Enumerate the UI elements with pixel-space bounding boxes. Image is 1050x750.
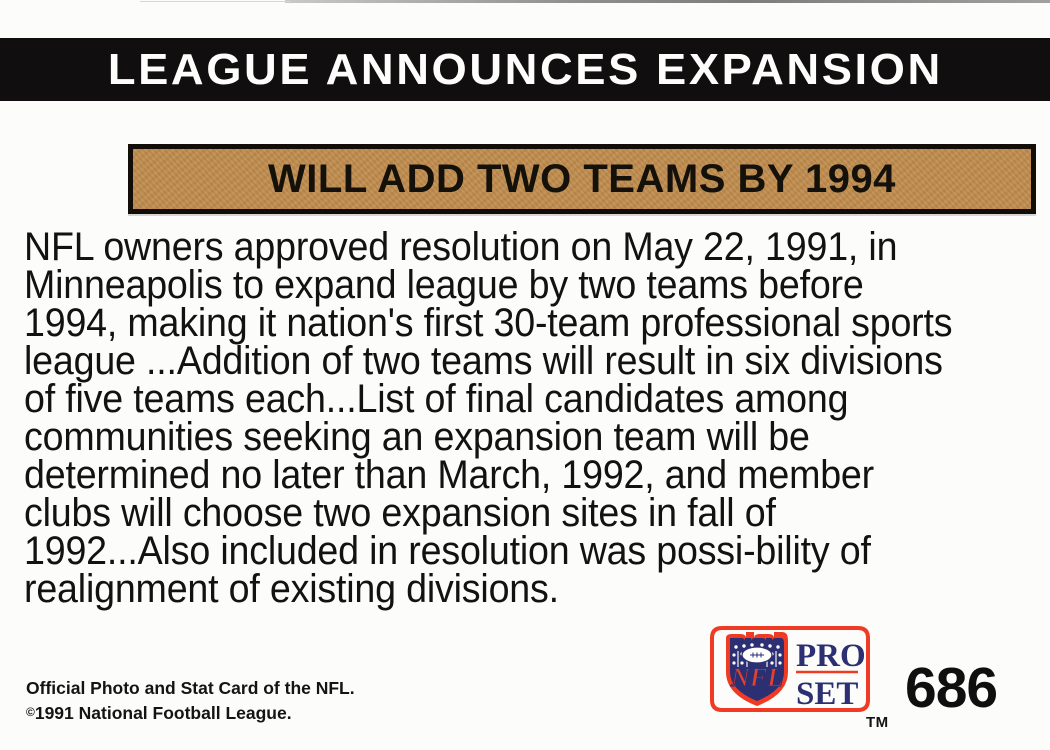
footer-line-official: Official Photo and Stat Card of the NFL. — [26, 676, 355, 700]
headline-band: LEAGUE ANNOUNCES EXPANSION — [0, 38, 1050, 101]
trading-card-back: LEAGUE ANNOUNCES EXPANSION WILL ADD TWO … — [0, 0, 1050, 750]
subtitle-banner: WILL ADD TWO TEAMS BY 1994 — [128, 144, 1036, 214]
brand-word-set: SET — [796, 676, 858, 712]
footer-copyright-text: 1991 National Football League. — [35, 703, 292, 723]
trademark-mark: TM — [866, 714, 889, 731]
brand-word-pro: PRO — [796, 638, 866, 674]
body-text: NFL owners approved resolution on May 22… — [24, 228, 964, 608]
copyright-icon: © — [26, 705, 35, 719]
scan-edge-line — [285, 0, 1050, 3]
scan-edge-line-faint — [140, 1, 290, 2]
pro-set-logo-graphic: NFL PRO SET — [708, 622, 884, 722]
subtitle-text: WILL ADD TWO TEAMS BY 1994 — [268, 157, 896, 202]
footer-line-copyright: ©1991 National Football League. — [26, 700, 355, 725]
pro-set-logo: NFL PRO SET TM — [708, 622, 884, 722]
nfl-wordmark: NFL — [730, 663, 783, 692]
footer-fine-print: Official Photo and Stat Card of the NFL.… — [26, 676, 355, 725]
card-number: 686 — [905, 660, 997, 717]
page-title: LEAGUE ANNOUNCES EXPANSION — [108, 48, 943, 92]
